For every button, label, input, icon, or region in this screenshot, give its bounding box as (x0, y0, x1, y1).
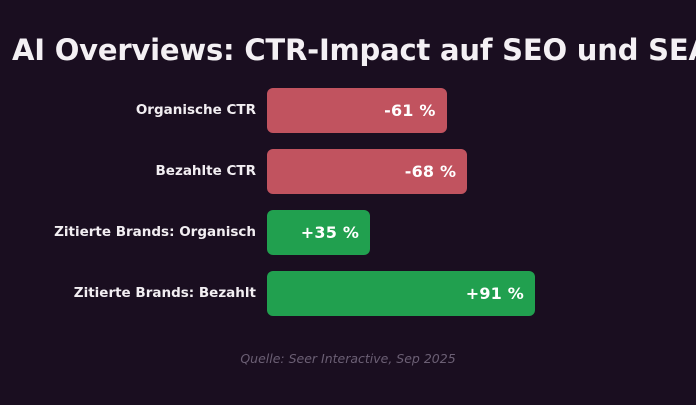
bar-fill-zitierte-brands-organisch[interactable]: +35 % (267, 210, 370, 255)
bar-label-bezahlte-ctr: Bezahlte CTR (0, 149, 256, 194)
chart-source-note: Quelle: Seer Interactive, Sep 2025 (0, 351, 696, 366)
bar-row: Organische CTR -61 % (0, 88, 696, 133)
bar-label-zitierte-brands-bezahlt: Zitierte Brands: Bezahlt (0, 271, 256, 316)
bar-fill-bezahlte-ctr[interactable]: -68 % (267, 149, 467, 194)
bar-row: Zitierte Brands: Organisch +35 % (0, 210, 696, 255)
bar-chart-plot-area: Organische CTR -61 % Bezahlte CTR -68 % … (0, 88, 696, 336)
chart-title: AI Overviews: CTR-Impact auf SEO und SEA (12, 33, 696, 67)
bar-track: -61 % (267, 88, 696, 133)
bar-fill-organische-ctr[interactable]: -61 % (267, 88, 447, 133)
bar-row: Zitierte Brands: Bezahlt +91 % (0, 271, 696, 316)
bar-fill-zitierte-brands-bezahlt[interactable]: +91 % (267, 271, 535, 316)
chart-container: AI Overviews: CTR-Impact auf SEO und SEA… (0, 0, 696, 405)
bar-label-zitierte-brands-organisch: Zitierte Brands: Organisch (0, 210, 256, 255)
bar-track: +91 % (267, 271, 696, 316)
bar-value-organische-ctr: -61 % (384, 101, 436, 120)
bar-track: -68 % (267, 149, 696, 194)
bar-value-zitierte-brands-bezahlt: +91 % (466, 284, 524, 303)
bar-value-bezahlte-ctr: -68 % (405, 162, 457, 181)
bar-row: Bezahlte CTR -68 % (0, 149, 696, 194)
bar-value-zitierte-brands-organisch: +35 % (301, 223, 359, 242)
bar-track: +35 % (267, 210, 696, 255)
bar-label-organische-ctr: Organische CTR (0, 88, 256, 133)
